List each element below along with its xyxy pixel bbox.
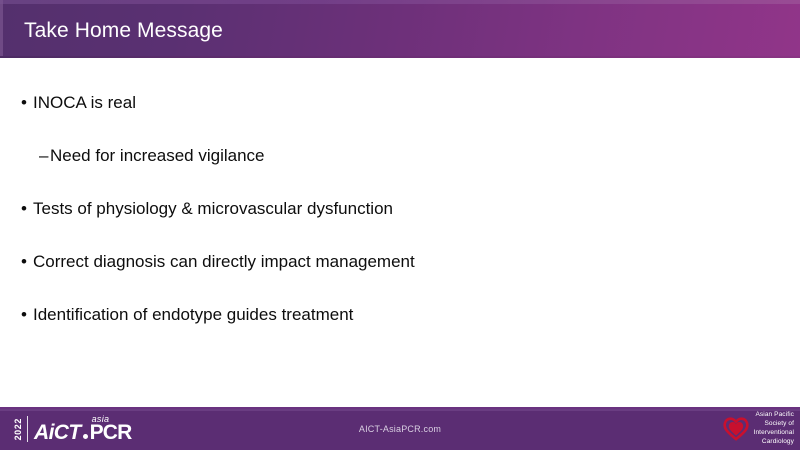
bullet-marker-icon: •	[21, 304, 33, 326]
bullet-text: Identification of endotype guides treatm…	[33, 304, 353, 326]
header-top-highlight	[0, 0, 800, 4]
society-name-text: Asian Pacific Society of Interventional …	[754, 411, 794, 447]
sub-bullet-marker-icon: –	[39, 145, 50, 167]
bullet-marker-icon: •	[21, 92, 33, 114]
bullet-marker-icon: •	[21, 198, 33, 220]
logo-dot-icon	[83, 434, 88, 439]
bullet-text: Tests of physiology & microvascular dysf…	[33, 198, 393, 220]
slide-body: • INOCA is real – Need for increased vig…	[0, 58, 800, 408]
bullet-marker-icon: •	[21, 251, 33, 273]
list-item: • Correct diagnosis can directly impact …	[21, 251, 415, 273]
society-line-2: Society of	[764, 420, 794, 428]
society-line-4: Cardiology	[762, 438, 794, 446]
presentation-slide: Take Home Message • INOCA is real – Need…	[0, 0, 800, 450]
header-left-edge	[0, 0, 3, 58]
footer-top-highlight	[0, 409, 800, 411]
list-item: • Tests of physiology & microvascular dy…	[21, 198, 393, 220]
asian-pacific-society-logo: Asian Pacific Society of Interventional …	[723, 411, 794, 447]
bullet-text: Correct diagnosis can directly impact ma…	[33, 251, 415, 273]
list-item: • INOCA is real	[21, 92, 136, 114]
heart-icon	[723, 417, 749, 441]
bullet-text: Need for increased vigilance	[50, 145, 265, 167]
society-line-3: Interventional	[754, 429, 794, 437]
bullet-text: INOCA is real	[33, 92, 136, 114]
list-item: • Identification of endotype guides trea…	[21, 304, 353, 326]
list-item: – Need for increased vigilance	[39, 145, 265, 167]
page-title: Take Home Message	[24, 19, 223, 43]
society-line-1: Asian Pacific	[755, 411, 794, 419]
footer-website-url: AICT-AsiaPCR.com	[0, 424, 800, 434]
